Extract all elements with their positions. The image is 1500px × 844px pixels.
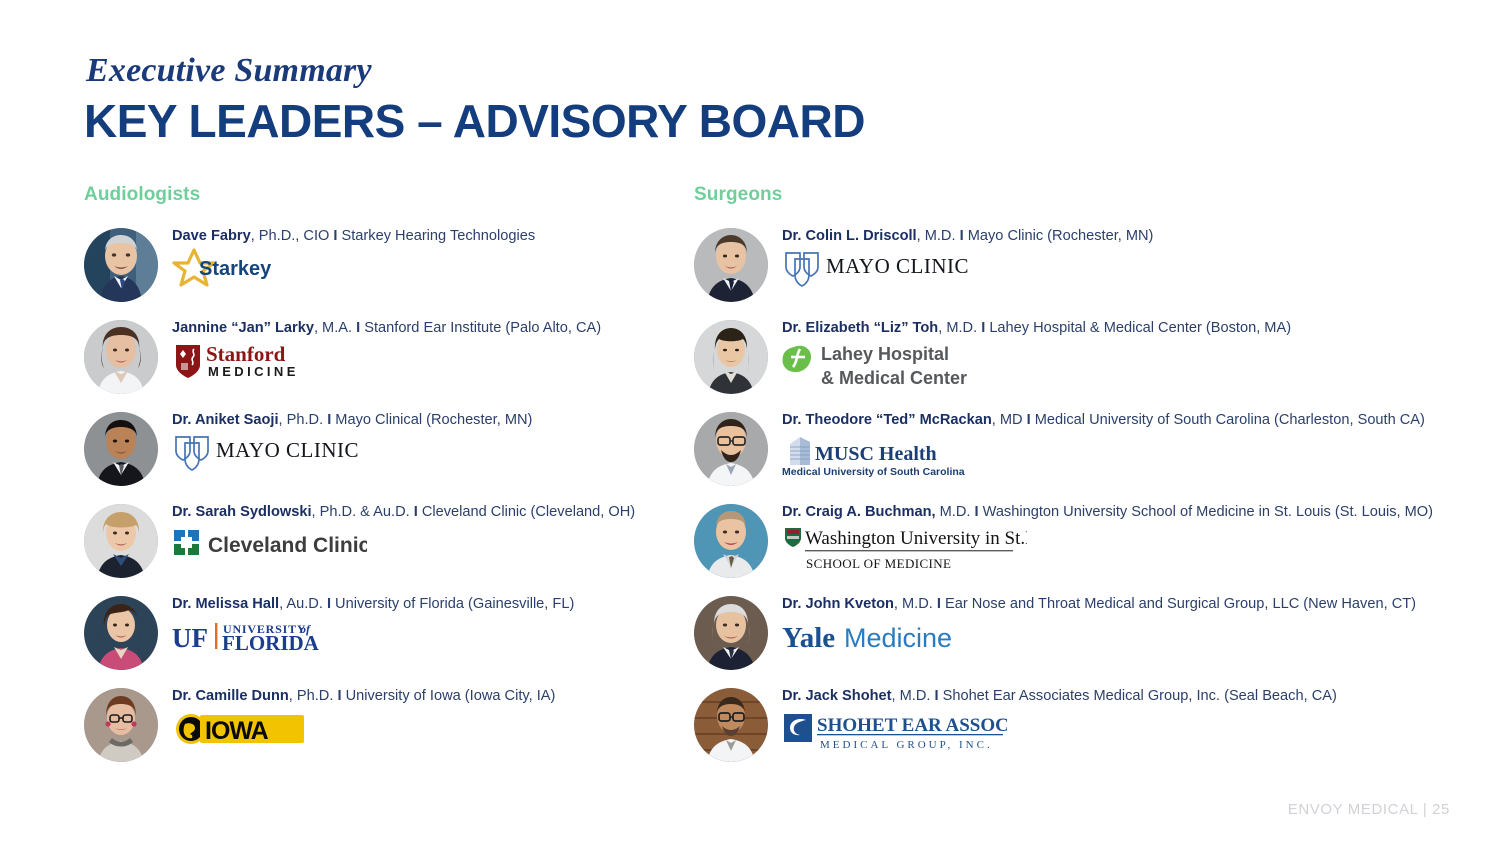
person-credentials: , MD [992,412,1027,428]
page-title: KEY LEADERS – ADVISORY BOARD [84,94,865,148]
avatar [694,320,768,394]
person-card[interactable]: Dr. Jack Shohet, M.D. I Shohet Ear Assoc… [694,688,1494,780]
shohet-ear-associates-logo: SHOHET EAR ASSOCIATES MEDICAL GROUP, INC… [782,709,1494,753]
stanford-medicine-logo: Stanford MEDICINE [172,341,694,381]
person-details: Dr. Aniket Saoji, Ph.D. I Mayo Clinical … [172,412,694,473]
person-line: Dave Fabry, Ph.D., CIO I Starkey Hearing… [172,228,694,245]
person-line: Dr. Theodore “Ted” McRackan, MD I Medica… [782,412,1494,429]
avatar [84,412,158,486]
university-of-florida-logo: UF UNIVERSITY of FLORIDA [172,617,694,657]
svg-text:SCHOOL OF MEDICINE: SCHOOL OF MEDICINE [806,556,951,571]
musc-health-logo: MUSC Health Medical University of South … [782,433,1494,479]
person-affiliation: Mayo Clinic (Rochester, MN) [964,228,1154,244]
person-affiliation: Stanford Ear Institute (Palo Alto, CA) [360,320,601,336]
mayo-clinic-logo: MAYO CLINIC [782,249,1494,289]
person-name: Dave Fabry [172,228,251,244]
svg-text:Medical University of South Ca: Medical University of South Carolina [782,466,965,478]
person-name: Dr. Sarah Sydlowski [172,504,312,520]
person-credentials: , M.D. [938,320,981,336]
person-line: Dr. Jack Shohet, M.D. I Shohet Ear Assoc… [782,688,1494,705]
person-affiliation: Mayo Clinical (Rochester, MN) [331,412,532,428]
washington-university-logo: Washington University in St.Louis SCHOOL… [782,525,1494,575]
column-surgeons: Surgeons Dr. Colin L. Driscoll, M.D. I M… [694,184,1494,780]
person-details: Dr. Theodore “Ted” McRackan, MD I Medica… [782,412,1494,479]
svg-text:FLORIDA: FLORIDA [222,631,320,655]
person-details: Dr. Colin L. Driscoll, M.D. I Mayo Clini… [782,228,1494,289]
mayo-clinic-logo: MAYO CLINIC [172,433,694,473]
person-details: Dave Fabry, Ph.D., CIO I Starkey Hearing… [172,228,694,289]
person-affiliation: Cleveland Clinic (Cleveland, OH) [418,504,635,520]
person-line: Dr. Melissa Hall, Au.D. I University of … [172,596,694,613]
eyebrow-heading: Executive Summary [86,52,372,90]
person-line: Dr. Sarah Sydlowski, Ph.D. & Au.D. I Cle… [172,504,694,521]
person-card[interactable]: Dr. Melissa Hall, Au.D. I University of … [84,596,694,688]
person-card[interactable]: Dr. John Kveton, M.D. I Ear Nose and Thr… [694,596,1494,688]
starkey-logo: Starkey [172,249,694,289]
cleveland-clinic-logo: Cleveland Clinic [172,525,694,565]
svg-text:MEDICAL GROUP, INC.: MEDICAL GROUP, INC. [820,739,993,751]
person-name: Dr. Elizabeth “Liz” Toh [782,320,938,336]
lahey-hospital-logo: Lahey Hospital & Medical Center [782,341,1494,393]
person-credentials: , Ph.D., CIO [251,228,334,244]
person-affiliation: Medical University of South Carolina (Ch… [1031,412,1425,428]
person-details: Dr. Melissa Hall, Au.D. I University of … [172,596,694,657]
person-name: Dr. John Kveton [782,596,894,612]
person-details: Dr. Elizabeth “Liz” Toh, M.D. I Lahey Ho… [782,320,1494,393]
person-name: Jannine “Jan” Larky [172,320,314,336]
person-credentials: , M.D. [917,228,960,244]
column-audiologists: Audiologists Dave Fabry, Ph.D., CIO I St… [84,184,694,780]
svg-text:SHOHET EAR ASSOCIATES: SHOHET EAR ASSOCIATES [817,715,1007,736]
avatar [84,504,158,578]
person-affiliation: University of Iowa (Iowa City, IA) [342,688,556,704]
yale-medicine-logo: Yale Medicine [782,617,1494,657]
person-affiliation: Lahey Hospital & Medical Center (Boston,… [985,320,1291,336]
avatar [694,596,768,670]
person-card[interactable]: Jannine “Jan” Larky, M.A. I Stanford Ear… [84,320,694,412]
person-name: Dr. Aniket Saoji [172,412,279,428]
person-line: Dr. Colin L. Driscoll, M.D. I Mayo Clini… [782,228,1494,245]
avatar [694,228,768,302]
person-credentials: , Au.D. [279,596,327,612]
person-line: Dr. Elizabeth “Liz” Toh, M.D. I Lahey Ho… [782,320,1494,337]
avatar [84,228,158,302]
person-affiliation: Washington University School of Medicine… [979,504,1434,520]
person-name: Dr. Melissa Hall [172,596,279,612]
person-name: Dr. Jack Shohet [782,688,892,704]
person-credentials: M.D. [936,504,975,520]
person-affiliation: Ear Nose and Throat Medical and Surgical… [941,596,1416,612]
person-name: Dr. Craig A. Buchman, [782,504,936,520]
svg-text:Cleveland Clinic: Cleveland Clinic [208,534,367,557]
person-credentials: , M.A. [314,320,356,336]
person-details: Dr. Craig A. Buchman, M.D. I Washington … [782,504,1494,575]
person-affiliation: University of Florida (Gainesville, FL) [331,596,574,612]
svg-text:MUSC Health: MUSC Health [815,443,937,465]
person-card[interactable]: Dr. Elizabeth “Liz” Toh, M.D. I Lahey Ho… [694,320,1494,412]
svg-text:Stanford: Stanford [206,342,286,366]
person-details: Dr. Camille Dunn, Ph.D. I University of … [172,688,694,749]
svg-text:MAYO CLINIC: MAYO CLINIC [826,254,969,278]
column-heading-surgeons: Surgeons [694,184,1494,206]
avatar [84,596,158,670]
svg-text:Washington University in St.Lo: Washington University in St.Louis [805,528,1027,549]
svg-text:MEDICINE: MEDICINE [208,364,299,379]
university-of-iowa-logo: IOWA [172,709,694,749]
person-card[interactable]: Dr. Colin L. Driscoll, M.D. I Mayo Clini… [694,228,1494,320]
person-line: Dr. Craig A. Buchman, M.D. I Washington … [782,504,1494,521]
person-name: Dr. Colin L. Driscoll [782,228,917,244]
person-card[interactable]: Dr. Theodore “Ted” McRackan, MD I Medica… [694,412,1494,504]
avatar [694,504,768,578]
person-details: Jannine “Jan” Larky, M.A. I Stanford Ear… [172,320,694,381]
person-credentials: , M.D. [894,596,937,612]
svg-text:Lahey Hospital: Lahey Hospital [821,344,949,364]
person-credentials: , M.D. [892,688,935,704]
person-name: Dr. Camille Dunn [172,688,289,704]
avatar [694,688,768,762]
person-affiliation: Starkey Hearing Technologies [337,228,535,244]
slide: Executive Summary KEY LEADERS – ADVISORY… [0,0,1500,844]
person-card[interactable]: Dave Fabry, Ph.D., CIO I Starkey Hearing… [84,228,694,320]
person-credentials: , Ph.D. & Au.D. [312,504,414,520]
avatar [84,688,158,762]
svg-text:UF: UF [172,623,208,653]
person-card[interactable]: Dr. Camille Dunn, Ph.D. I University of … [84,688,694,780]
avatar [84,320,158,394]
svg-text:MAYO CLINIC: MAYO CLINIC [216,438,359,462]
person-card[interactable]: Dr. Sarah Sydlowski, Ph.D. & Au.D. I Cle… [84,504,694,596]
person-details: Dr. Sarah Sydlowski, Ph.D. & Au.D. I Cle… [172,504,694,565]
person-credentials: , Ph.D. [279,412,328,428]
column-heading-audiologists: Audiologists [84,184,694,206]
person-card[interactable]: Dr. Craig A. Buchman, M.D. I Washington … [694,504,1494,596]
svg-text:IOWA: IOWA [205,717,269,745]
person-card[interactable]: Dr. Aniket Saoji, Ph.D. I Mayo Clinical … [84,412,694,504]
svg-text:Medicine: Medicine [844,623,952,653]
person-details: Dr. Jack Shohet, M.D. I Shohet Ear Assoc… [782,688,1494,753]
person-line: Dr. Camille Dunn, Ph.D. I University of … [172,688,694,705]
svg-text:Yale: Yale [782,622,835,654]
avatar [694,412,768,486]
person-credentials: , Ph.D. [289,688,338,704]
person-line: Dr. John Kveton, M.D. I Ear Nose and Thr… [782,596,1494,613]
person-affiliation: Shohet Ear Associates Medical Group, Inc… [939,688,1337,704]
person-details: Dr. John Kveton, M.D. I Ear Nose and Thr… [782,596,1494,657]
svg-text:Starkey: Starkey [199,258,272,280]
footer-label: ENVOY MEDICAL | 25 [1288,801,1450,818]
person-line: Dr. Aniket Saoji, Ph.D. I Mayo Clinical … [172,412,694,429]
person-line: Jannine “Jan” Larky, M.A. I Stanford Ear… [172,320,694,337]
person-name: Dr. Theodore “Ted” McRackan [782,412,992,428]
svg-text:& Medical Center: & Medical Center [821,368,967,388]
